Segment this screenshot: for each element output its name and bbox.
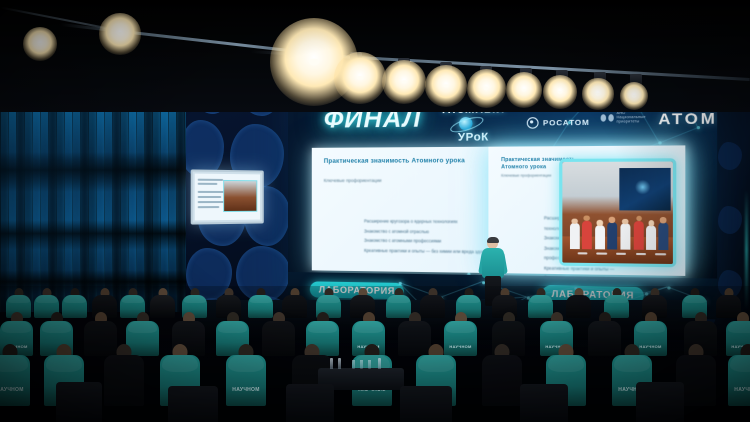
hoodie-text: НАУЧНОМ bbox=[734, 387, 750, 393]
slide-title: Практическая значимость Атомного урока bbox=[324, 157, 478, 166]
drinking-glass bbox=[360, 360, 363, 369]
hoodie-hood bbox=[0, 355, 28, 372]
hoodie-hood bbox=[636, 321, 665, 333]
audience-member bbox=[104, 344, 144, 406]
hoodie-hood bbox=[64, 295, 86, 303]
atomic-lesson-line2: УРоК bbox=[442, 131, 505, 144]
hoodie-hood bbox=[354, 321, 383, 333]
rosatom-logo: РОСАТОМ bbox=[527, 117, 590, 129]
hoodie-hood bbox=[184, 295, 206, 303]
water-bottle bbox=[378, 358, 381, 368]
hoodie-hood bbox=[730, 355, 750, 372]
hoodie-hood bbox=[46, 355, 81, 372]
rosatom-label: РОСАТОМ bbox=[543, 118, 590, 128]
audience-torso bbox=[262, 321, 295, 356]
audience-area: НАУЧНОМНАУЧНОМНАУЧНОМНАУЧНОМНАУЧНОМНАУЧН… bbox=[0, 286, 750, 422]
audience-torso bbox=[482, 355, 522, 406]
hoodie-hood bbox=[308, 321, 337, 333]
water-bottle bbox=[330, 358, 333, 368]
confidence-monitor bbox=[191, 169, 264, 224]
hoodie-hood bbox=[122, 295, 144, 303]
wall-cell bbox=[718, 206, 742, 234]
audience-member: НАУЧНОМ bbox=[0, 344, 30, 406]
network-line bbox=[659, 127, 698, 143]
hoodie-hood bbox=[728, 321, 750, 333]
hoodie-hood bbox=[218, 321, 247, 333]
audience-chair bbox=[168, 386, 218, 422]
photo-desk-item bbox=[616, 252, 627, 255]
photo-figure bbox=[582, 221, 592, 250]
slat-shadow bbox=[0, 220, 186, 250]
hoodie-hood bbox=[446, 321, 475, 333]
audience-torso: НАУЧНОМ bbox=[728, 355, 750, 406]
national-priorities-logo: АНО Национальные приоритеты bbox=[601, 112, 646, 125]
hoodie-hood bbox=[418, 355, 453, 372]
partner-line3: приоритеты bbox=[617, 120, 646, 124]
photo-desk-item bbox=[577, 252, 587, 255]
audience-torso: НАУЧНОМ bbox=[226, 355, 266, 406]
hoodie-hood bbox=[530, 295, 552, 303]
audience-member bbox=[482, 344, 522, 406]
hoodie-hood bbox=[8, 295, 30, 303]
ceiling-spotlight bbox=[99, 13, 141, 55]
ceiling-spotlight bbox=[467, 69, 506, 108]
audience-member: НАУЧНОМ bbox=[226, 344, 266, 406]
wall-cell bbox=[718, 142, 742, 170]
slide-subtitle: Ключевые профориентации bbox=[324, 178, 457, 184]
photo-desk-item bbox=[597, 252, 607, 255]
audience-chair bbox=[520, 384, 568, 422]
hoodie-hood bbox=[548, 355, 583, 372]
audience-chair bbox=[286, 384, 334, 422]
confidence-monitor-photo bbox=[223, 180, 257, 212]
hoodie-hood bbox=[228, 355, 263, 372]
photo-figure bbox=[646, 225, 656, 250]
audience-chair bbox=[400, 386, 452, 422]
drinking-glass bbox=[368, 360, 371, 369]
photo-figure bbox=[607, 222, 617, 249]
ceiling-spotlight bbox=[425, 65, 467, 107]
rosatom-mark-icon bbox=[527, 117, 539, 129]
audience-chair bbox=[56, 382, 102, 422]
atom-orbit-icon bbox=[442, 115, 505, 131]
audience-member: НАУЧНОМ bbox=[728, 344, 750, 406]
photo-figure bbox=[595, 225, 605, 249]
hoodie-hood bbox=[458, 295, 480, 303]
drinking-glass bbox=[352, 360, 355, 369]
hoodie-hood bbox=[606, 295, 628, 303]
hoodie-hood bbox=[36, 295, 58, 303]
ceiling-spotlight bbox=[506, 72, 542, 108]
hoodie-hood bbox=[614, 355, 649, 372]
conference-stage-photo: ФИНАЛ АТоМНЫЙ УРоК РОСАТОМ АНО Националь… bbox=[0, 0, 750, 422]
hoodie-hood bbox=[250, 295, 272, 303]
hoodie-hood bbox=[542, 321, 571, 333]
photo-figure bbox=[634, 221, 644, 250]
hoodie-hood bbox=[128, 321, 157, 333]
photo-desk-item bbox=[636, 253, 647, 256]
hoodie-hood bbox=[388, 295, 410, 303]
ceiling-spotlight bbox=[582, 78, 613, 109]
photo-desk-item bbox=[655, 253, 666, 256]
audience-torso bbox=[104, 355, 144, 406]
partner-dots-icon bbox=[601, 114, 614, 122]
hoodie-hood bbox=[2, 321, 31, 333]
photo-figure bbox=[658, 222, 668, 250]
atom-logo-big: ATOM bbox=[658, 111, 717, 129]
ceiling-spotlight bbox=[334, 52, 386, 104]
ceiling-spotlight bbox=[23, 27, 57, 61]
audience-member bbox=[262, 312, 295, 356]
ceiling-spotlight bbox=[543, 75, 577, 109]
water-bottle bbox=[338, 358, 341, 368]
slide-photo-right bbox=[559, 158, 676, 267]
ceiling-spotlight bbox=[382, 60, 426, 104]
slat-shadow bbox=[0, 152, 186, 192]
hoodie-hood bbox=[42, 321, 71, 333]
audience-torso: НАУЧНОМ bbox=[0, 355, 30, 406]
photo-figure bbox=[620, 224, 630, 250]
photo-figure bbox=[570, 223, 580, 249]
presentation-slide-right: Практическая значимость Атомного урока К… bbox=[488, 145, 685, 276]
hoodie-text: НАУЧНОМ bbox=[232, 387, 259, 393]
hoodie-hood bbox=[162, 355, 197, 372]
hoodie-hood bbox=[684, 295, 706, 303]
audience-chair bbox=[636, 382, 684, 422]
hoodie-hood bbox=[318, 295, 340, 303]
hoodie-text: НАУЧНОМ bbox=[0, 387, 24, 393]
confidence-monitor-screen bbox=[195, 174, 260, 221]
